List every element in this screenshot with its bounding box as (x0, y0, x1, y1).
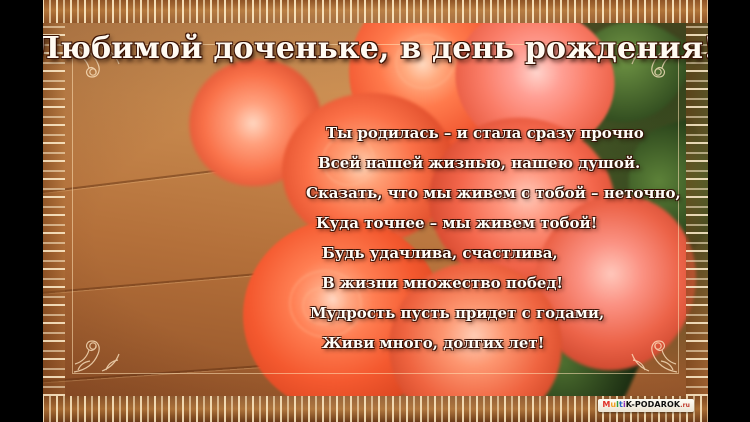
poem-line: Будь удачлива, счастлива, (300, 238, 690, 268)
poem-line: Мудрость пусть придет с годами, (300, 298, 690, 328)
greeting-card: Любимой доченьке, в день рождения! Ты ро… (0, 0, 750, 422)
poem-line: Живи много, долгих лет! (300, 328, 690, 358)
card-title: Любимой доченьке, в день рождения! (0, 31, 750, 66)
letterbox-bar-left (0, 0, 43, 422)
poem-line: Всей нашей жизнью, нашею душой. (300, 148, 690, 178)
poem-line: Куда точнее – мы живем тобой! (300, 208, 690, 238)
watermark-name: K-PODAROK (626, 400, 680, 409)
watermark-text: MultiK-PODAROK.ru (602, 400, 690, 411)
letterbox-bar-right (708, 0, 750, 422)
watermark-tld: .ru (680, 402, 690, 409)
poem-line: Ты родилась – и стала сразу прочно (300, 118, 690, 148)
poem-block: Ты родилась – и стала сразу прочно Всей … (300, 118, 690, 358)
poem-line: Сказать, что мы живем с тобой – неточно, (300, 178, 690, 208)
poem-line: В жизни множество побед! (300, 268, 690, 298)
site-watermark: MultiK-PODAROK.ru (598, 399, 694, 412)
